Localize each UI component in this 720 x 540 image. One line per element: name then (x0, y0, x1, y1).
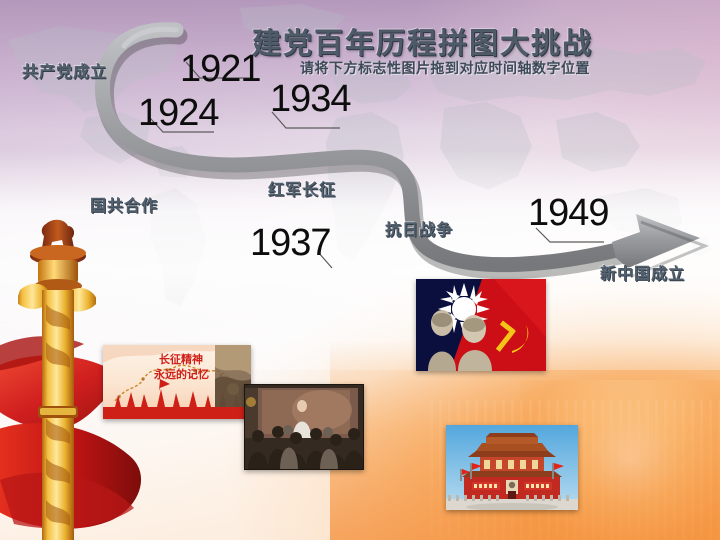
kmt-ccp-cooperation-photo-card[interactable] (416, 279, 546, 371)
event-label-party-founding: 共产党成立 (22, 58, 107, 82)
party-congress-meeting-photo-card[interactable] (244, 384, 364, 470)
long-march-caption-line2: 永远的记忆 (153, 367, 209, 381)
tiananmen-founding-photo (446, 425, 578, 510)
long-march-photo: 长征精神 永远的记忆 (103, 345, 251, 419)
tiananmen-founding-photo-card[interactable] (446, 425, 578, 510)
event-label-kmt-ccp-cooperation: 国共合作 (90, 192, 158, 216)
page-subtitle: 请将下方标志性图片拖到对应时间轴数字位置 (300, 58, 590, 78)
page-title: 建党百年历程拼图大挑战 (252, 20, 593, 62)
year-1937[interactable]: 1937 (250, 222, 331, 265)
year-1924[interactable]: 1924 (138, 92, 219, 135)
year-1949[interactable]: 1949 (528, 192, 609, 235)
slide-canvas: 建党百年历程拼图大挑战 请将下方标志性图片拖到对应时间轴数字位置 1921 19… (0, 0, 720, 540)
year-1921[interactable]: 1921 (180, 48, 261, 91)
long-march-photo-card[interactable]: 长征精神 永远的记忆 (103, 345, 251, 419)
event-label-new-china-founding: 新中国成立 (600, 260, 685, 284)
year-1934[interactable]: 1934 (270, 78, 351, 121)
long-march-caption-line1: 长征精神 (159, 352, 203, 366)
party-congress-meeting-photo (244, 384, 364, 470)
event-label-long-march: 红军长征 (268, 176, 336, 200)
kmt-ccp-cooperation-photo (416, 279, 546, 371)
huabiao-column (18, 218, 96, 540)
event-label-anti-japanese-war: 抗日战争 (385, 216, 453, 240)
